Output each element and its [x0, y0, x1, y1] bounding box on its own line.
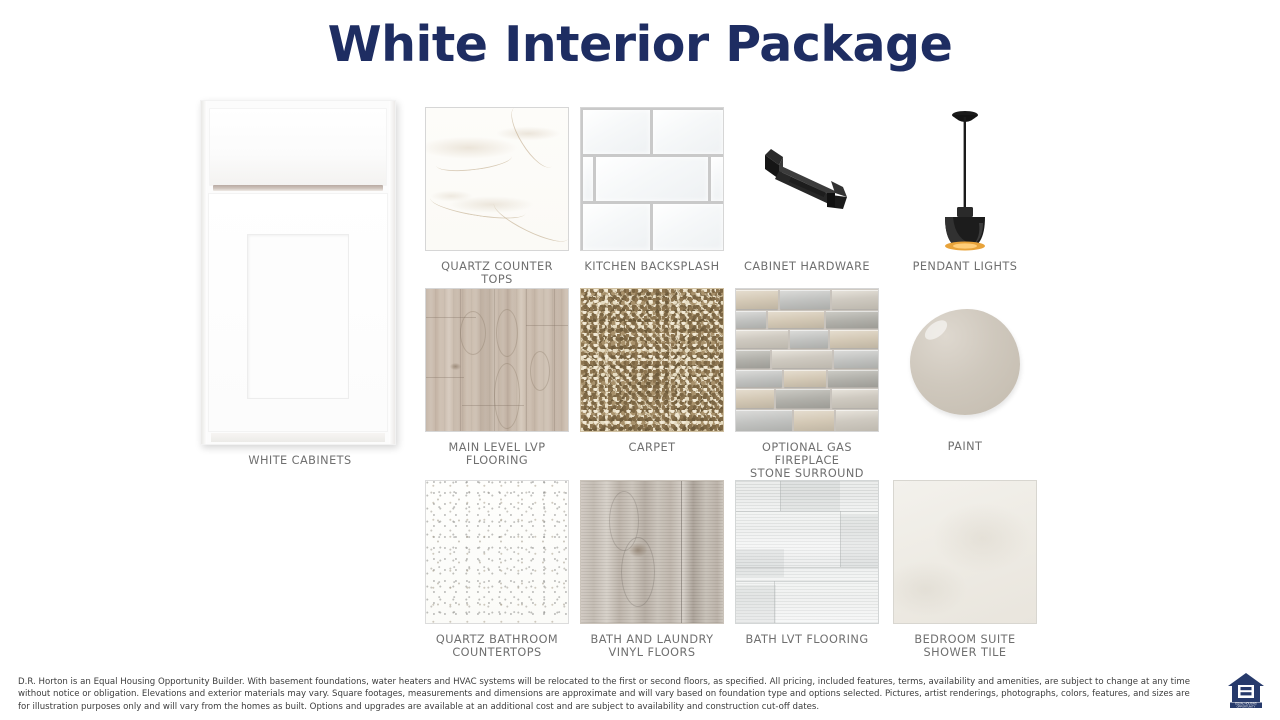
- item-label: PENDANT LIGHTS: [893, 260, 1037, 273]
- swatch-quartz-counter-tops: [425, 107, 569, 251]
- pendant-light-icon: [893, 107, 1037, 251]
- quartz-vein: [435, 147, 513, 174]
- paint-color-blob: [910, 309, 1020, 415]
- stone-brick: [830, 330, 879, 348]
- equal-housing-opportunity-logo: EQUAL HOUSING OPPORTUNITY: [1226, 668, 1266, 708]
- item-bedroom-suite-shower-tile: BEDROOM SUITE SHOWER TILE: [893, 480, 1037, 659]
- cabinet-base-shadow: [211, 433, 385, 442]
- cabinet-pull-icon: [735, 107, 879, 251]
- wood-grain: [496, 309, 518, 357]
- item-label: OPTIONAL GAS FIREPLACE STONE SURROUND: [735, 441, 879, 480]
- lvt-seam: [780, 481, 781, 511]
- lvt-seam: [736, 581, 879, 582]
- cabinet-right-shading: [389, 101, 395, 444]
- stone-brick: [736, 389, 774, 408]
- swatch-cabinet-hardware: [735, 107, 879, 251]
- item-quartz-bathroom-countertops: QUARTZ BATHROOM COUNTERTOPS: [425, 480, 569, 659]
- swatch-main-level-lvp-flooring: [425, 288, 569, 432]
- stone-brick: [794, 410, 834, 432]
- swatch-paint: [893, 290, 1037, 434]
- item-bath-lvt-flooring: BATH LVT FLOORING: [735, 480, 879, 646]
- item-label: MAIN LEVEL LVP FLOORING: [425, 441, 569, 467]
- interior-package-page: White Interior Package WHITE CABINETS QU…: [0, 0, 1280, 720]
- item-label: BATH LVT FLOORING: [735, 633, 879, 646]
- subway-tile: [711, 157, 723, 201]
- stone-brick: [784, 370, 826, 387]
- page-title: White Interior Package: [0, 18, 1280, 72]
- lvt-tile-shade: [780, 481, 840, 511]
- cabinet-reveal-gap: [213, 185, 383, 191]
- plank-edge: [526, 289, 527, 431]
- stone-brick: [828, 370, 879, 387]
- stone-brick: [736, 330, 788, 348]
- subway-tile: [583, 110, 650, 154]
- stone-brick: [826, 311, 879, 328]
- wood-grain: [530, 351, 550, 391]
- item-cabinet-hardware: CABINET HARDWARE: [735, 107, 879, 273]
- lvt-tile-shade: [736, 549, 784, 577]
- item-pendant-lights: PENDANT LIGHTS: [893, 107, 1037, 273]
- item-paint: PAINT: [893, 290, 1037, 453]
- featured-item-white-cabinets: WHITE CABINETS: [200, 100, 400, 467]
- stone-brick: [736, 290, 778, 309]
- stone-brick: [736, 311, 766, 328]
- plank-edge: [681, 481, 682, 623]
- item-label: BATH AND LAUNDRY VINYL FLOORS: [580, 633, 724, 659]
- subway-tile: [653, 204, 723, 250]
- cabinet-left-shading: [201, 101, 207, 444]
- plank-edge: [460, 289, 461, 431]
- item-bath-and-laundry-vinyl-floors: BATH AND LAUNDRY VINYL FLOORS: [580, 480, 724, 659]
- wood-knot: [629, 543, 647, 557]
- stone-brick: [736, 410, 792, 432]
- swatch-carpet: [580, 288, 724, 432]
- wood-grain: [460, 311, 486, 355]
- item-quartz-counter-tops: QUARTZ COUNTER TOPS: [425, 107, 569, 286]
- lvt-seam: [774, 581, 775, 624]
- swatch-pendant-lights: [893, 107, 1037, 251]
- lvt-seam: [736, 511, 879, 512]
- item-optional-gas-fireplace-stone-surround: OPTIONAL GAS FIREPLACE STONE SURROUND: [735, 288, 879, 480]
- subway-tile: [653, 110, 723, 154]
- stone-brick: [736, 370, 782, 387]
- swatch-kitchen-backsplash: [580, 107, 724, 251]
- stone-brick: [790, 330, 828, 348]
- plank-seam: [426, 377, 464, 378]
- swatch-stacked-stone: [735, 288, 879, 432]
- lvt-tile-shade: [840, 515, 879, 567]
- plank-edge: [554, 289, 555, 431]
- stone-brick: [832, 389, 879, 408]
- item-label: QUARTZ COUNTER TOPS: [425, 260, 569, 286]
- plank-seam: [526, 325, 569, 326]
- equal-housing-icon: EQUAL HOUSING OPPORTUNITY: [1226, 668, 1266, 708]
- item-label: KITCHEN BACKSPLASH: [580, 260, 724, 273]
- swatch-quartz-bathroom-countertops: [425, 480, 569, 624]
- white-cabinet-door-image: [200, 100, 396, 445]
- stone-brick: [780, 290, 830, 309]
- cabinet-shaker-panel: [247, 234, 349, 399]
- item-label: CARPET: [580, 441, 724, 454]
- subway-tile: [583, 157, 593, 201]
- quartz-vein: [489, 193, 569, 249]
- swatch-bath-and-laundry-vinyl-floors: [580, 480, 724, 624]
- item-carpet: CARPET: [580, 288, 724, 454]
- subway-tile: [583, 204, 650, 250]
- stone-brick: [768, 311, 824, 328]
- svg-text:OPPORTUNITY: OPPORTUNITY: [1237, 704, 1256, 708]
- stone-brick: [736, 350, 770, 368]
- legal-disclaimer: D.R. Horton is an Equal Housing Opportun…: [18, 676, 1196, 713]
- item-main-level-lvp-flooring: MAIN LEVEL LVP FLOORING: [425, 288, 569, 467]
- lvt-tile-shade: [736, 585, 776, 624]
- cabinet-lower-door: [208, 193, 388, 432]
- stone-brick: [834, 350, 879, 368]
- swatch-bath-lvt-flooring: [735, 480, 879, 624]
- item-kitchen-backsplash: KITCHEN BACKSPLASH: [580, 107, 724, 273]
- wood-knot: [450, 363, 461, 370]
- swatch-bedroom-suite-shower-tile: [893, 480, 1037, 624]
- item-label: BEDROOM SUITE SHOWER TILE: [893, 633, 1037, 659]
- stone-brick: [832, 290, 879, 309]
- item-label: CABINET HARDWARE: [735, 260, 879, 273]
- quartz-vein: [503, 107, 562, 174]
- subway-tile: [596, 157, 708, 201]
- lvt-seam: [736, 567, 879, 568]
- cabinet-top-drawer: [209, 108, 387, 186]
- stone-brick: [776, 389, 830, 408]
- stone-brick: [772, 350, 832, 368]
- lvt-seam: [840, 511, 841, 567]
- featured-item-label: WHITE CABINETS: [200, 454, 400, 467]
- item-label: PAINT: [893, 440, 1037, 453]
- stone-brick: [836, 410, 879, 432]
- wood-grain: [494, 363, 520, 429]
- item-label: QUARTZ BATHROOM COUNTERTOPS: [425, 633, 569, 659]
